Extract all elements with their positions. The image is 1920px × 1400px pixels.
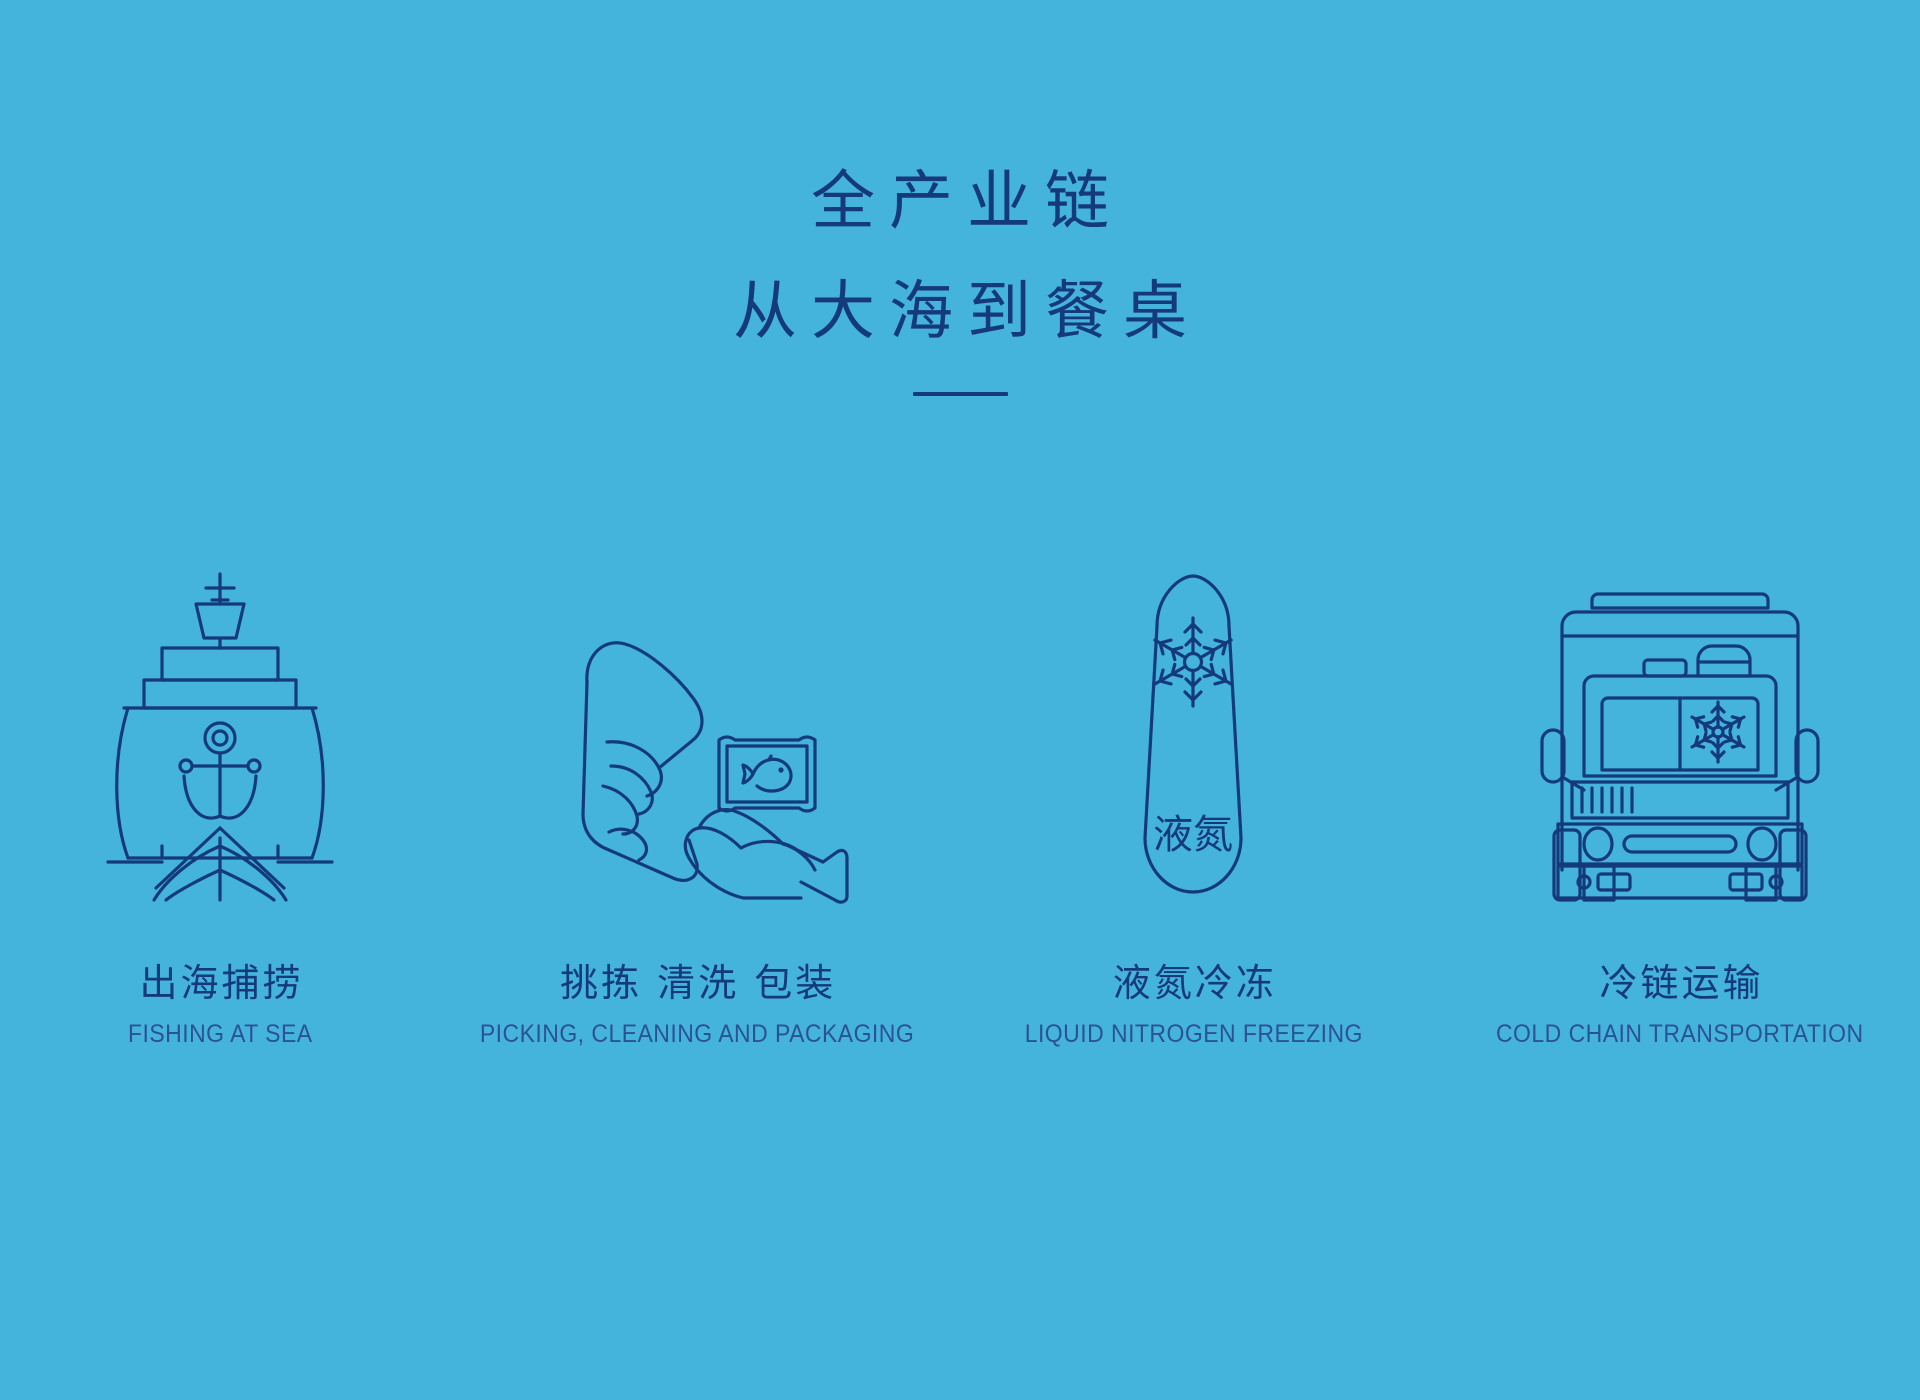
step-title-en: FISHING AT SEA — [128, 1020, 313, 1049]
step-title-cn: 挑拣 清洗 包装 — [461, 962, 933, 1006]
step-caption: 挑拣 清洗 包装 PICKING, CLEANING AND PACKAGING — [461, 962, 933, 1048]
process-steps: 出海捕捞 FISHING AT SEA — [0, 520, 1920, 1048]
step-cold-chain-transportation: 冷链运输 COLD CHAIN TRANSPORTATION — [1450, 520, 1910, 1048]
step-caption: 冷链运输 COLD CHAIN TRANSPORTATION — [1480, 962, 1880, 1048]
step-title-cn: 液氮冷冻 — [1010, 962, 1378, 1006]
page-header: 全产业链 从大海到餐桌 — [0, 170, 1920, 396]
liquid-nitrogen-tank-icon: 液氮 — [1123, 520, 1263, 900]
tank-label: 液氮 — [1153, 812, 1233, 858]
step-title-en: PICKING, CLEANING AND PACKAGING — [479, 1020, 913, 1049]
hands-packaged-fish-icon — [547, 520, 847, 900]
step-title-cn: 冷链运输 — [1480, 962, 1880, 1006]
step-picking-cleaning-packaging: 挑拣 清洗 包装 PICKING, CLEANING AND PACKAGING — [467, 520, 927, 1048]
step-caption: 出海捕捞 FISHING AT SEA — [120, 962, 321, 1048]
page-title-primary: 全产业链 — [0, 170, 1920, 234]
refrigerated-truck-icon — [1540, 520, 1820, 900]
page-title-secondary: 从大海到餐桌 — [0, 280, 1920, 344]
step-title-en: LIQUID NITROGEN FREEZING — [1024, 1020, 1362, 1049]
step-fishing-at-sea: 出海捕捞 FISHING AT SEA — [0, 520, 450, 1048]
step-title-en: COLD CHAIN TRANSPORTATION — [1496, 1020, 1864, 1049]
title-divider — [913, 392, 1008, 396]
step-caption: 液氮冷冻 LIQUID NITROGEN FREEZING — [1010, 962, 1378, 1048]
infographic-canvas: 全产业链 从大海到餐桌 — [0, 0, 1920, 1400]
step-liquid-nitrogen-freezing: 液氮 液氮冷冻 LIQUID NITROGEN FREEZING — [963, 520, 1423, 1048]
step-title-cn: 出海捕捞 — [120, 962, 321, 1006]
fishing-boat-icon — [100, 520, 340, 900]
